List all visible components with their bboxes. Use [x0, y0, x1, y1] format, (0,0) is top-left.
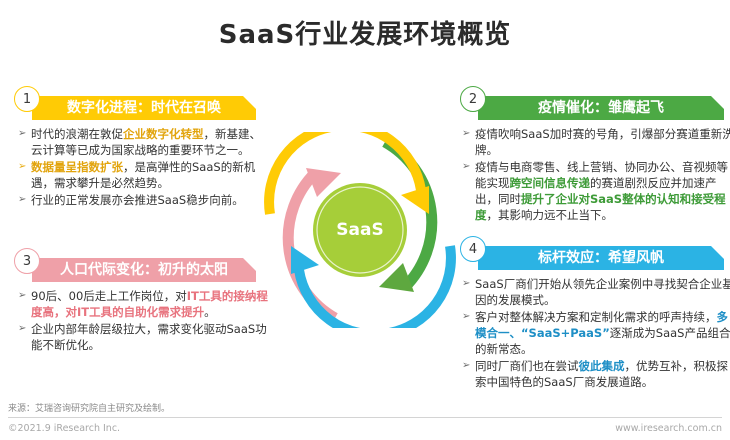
bullet-item: ➢时代的浪潮在敦促企业数字化转型，新基建、云计算等已成为国家战略的重要环节之一。	[18, 126, 268, 158]
bullet-arrow-icon: ➢	[462, 126, 475, 158]
bullet-text: 行业的正常发展亦会推进SaaS稳步向前。	[31, 192, 268, 208]
bullet-item: ➢企业内部年龄层级拉大，需求变化驱动SaaS功能不断优化。	[18, 321, 268, 353]
bullet-arrow-icon: ➢	[18, 126, 31, 158]
bullet-text: 同时厂商们也在尝试彼此集成，优势互补，积极探索中国特色的SaaS厂商发展道路。	[475, 358, 730, 390]
highlight-text: 数据量呈指数扩张	[31, 160, 123, 174]
section-header-3: 人口代际变化：初升的太阳	[32, 258, 256, 282]
text-run: 行业的正常发展亦会推进SaaS稳步向前。	[31, 193, 244, 207]
section-bullets-1: ➢时代的浪潮在敦促企业数字化转型，新基建、云计算等已成为国家战略的重要环节之一。…	[18, 126, 268, 209]
bullet-text: 客户对整体解决方案和定制化需求的呼声持续，多模合一、“SaaS+PaaS”逐渐成…	[475, 309, 730, 357]
bullet-text: SaaS厂商们开始从领先企业案例中寻找契合企业基因的发展模式。	[475, 276, 730, 308]
text-run: 疫情吹响SaaS加时赛的号角，引爆部分赛道重新洗牌。	[475, 127, 730, 157]
text-run: 同时厂商们也在尝试	[475, 359, 579, 373]
bullet-arrow-icon: ➢	[462, 309, 475, 357]
bullet-arrow-icon: ➢	[462, 358, 475, 390]
saas-core-circle	[313, 183, 407, 277]
bullet-item: ➢客户对整体解决方案和定制化需求的呼声持续，多模合一、“SaaS+PaaS”逐渐…	[462, 309, 730, 357]
bullet-arrow-icon: ➢	[18, 321, 31, 353]
bullet-text: 疫情与电商零售、线上营销、协同办公、音视频等能实现跨空间信息传递的赛道剧烈反应并…	[475, 159, 730, 223]
bullet-item: ➢同时厂商们也在尝试彼此集成，优势互补，积极探索中国特色的SaaS厂商发展道路。	[462, 358, 730, 390]
bullet-text: 90后、00后走上工作岗位，对IT工具的接纳程度高，对IT工具的自助化需求提升。	[31, 288, 268, 320]
bullet-arrow-icon: ➢	[18, 192, 31, 208]
text-run: 90后、00后走上工作岗位，对	[31, 289, 187, 303]
copyright-text: ©2021.9 iResearch Inc.	[8, 423, 120, 434]
bullet-text: 数据量呈指数扩张，是高弹性的SaaS的新机遇，需求攀升是必然趋势。	[31, 159, 268, 191]
bullet-arrow-icon: ➢	[462, 276, 475, 308]
website-url: www.iresearch.com.cn	[615, 423, 722, 434]
highlight-text: 跨空间信息传递	[510, 176, 591, 190]
section-header-1: 数字化进程：时代在召唤	[32, 96, 256, 120]
section-bullets-2: ➢疫情吹响SaaS加时赛的号角，引爆部分赛道重新洗牌。➢疫情与电商零售、线上营销…	[462, 126, 730, 224]
text-run: 。	[204, 305, 216, 319]
bullet-item: ➢数据量呈指数扩张，是高弹性的SaaS的新机遇，需求攀升是必然趋势。	[18, 159, 268, 191]
section-number-badge-4: 4	[460, 236, 486, 262]
bullet-text: 疫情吹响SaaS加时赛的号角，引爆部分赛道重新洗牌。	[475, 126, 730, 158]
text-run: SaaS厂商们开始从领先企业案例中寻找契合企业基因的发展模式。	[475, 277, 730, 307]
cycle-arcs-svg	[262, 132, 458, 328]
bullet-item: ➢SaaS厂商们开始从领先企业案例中寻找契合企业基因的发展模式。	[462, 276, 730, 308]
footer-divider	[8, 417, 722, 418]
slide-root: SaaS行业发展环境概览 1 数字化进程：时代在召唤 ➢时代的浪潮在敦促企业数字…	[0, 0, 730, 440]
bullet-text: 时代的浪潮在敦促企业数字化转型，新基建、云计算等已成为国家战略的重要环节之一。	[31, 126, 268, 158]
text-run: 企业内部年龄层级拉大，需求变化驱动SaaS功能不断优化。	[31, 322, 267, 352]
bullet-item: ➢疫情与电商零售、线上营销、协同办公、音视频等能实现跨空间信息传递的赛道剧烈反应…	[462, 159, 730, 223]
section-header-4: 标杆效应：希望风帆	[478, 246, 724, 270]
page-title: SaaS行业发展环境概览	[0, 14, 730, 51]
bullet-arrow-icon: ➢	[462, 159, 475, 223]
bullet-arrow-icon: ➢	[18, 288, 31, 320]
highlight-text: 企业数字化转型	[123, 127, 204, 141]
section-number-badge-3: 3	[14, 248, 40, 274]
bullet-arrow-icon: ➢	[18, 159, 31, 191]
text-run: 客户对整体解决方案和定制化需求的呼声持续，	[475, 310, 717, 324]
text-run: 时代的浪潮在敦促	[31, 127, 123, 141]
bullet-item: ➢行业的正常发展亦会推进SaaS稳步向前。	[18, 192, 268, 208]
section-number-badge-2: 2	[460, 86, 486, 112]
section-header-2: 疫情催化：雏鹰起飞	[478, 96, 724, 120]
source-note: 来源：艾瑞咨询研究院自主研究及绘制。	[8, 401, 170, 414]
section-number-badge-1: 1	[14, 86, 40, 112]
text-run: ，其影响力远不止当下。	[487, 208, 614, 222]
bullet-item: ➢疫情吹响SaaS加时赛的号角，引爆部分赛道重新洗牌。	[462, 126, 730, 158]
section-bullets-4: ➢SaaS厂商们开始从领先企业案例中寻找契合企业基因的发展模式。➢客户对整体解决…	[462, 276, 730, 391]
highlight-text: 彼此集成	[579, 359, 625, 373]
bullet-text: 企业内部年龄层级拉大，需求变化驱动SaaS功能不断优化。	[31, 321, 268, 353]
bullet-item: ➢90后、00后走上工作岗位，对IT工具的接纳程度高，对IT工具的自助化需求提升…	[18, 288, 268, 320]
section-bullets-3: ➢90后、00后走上工作岗位，对IT工具的接纳程度高，对IT工具的自助化需求提升…	[18, 288, 268, 354]
saas-cycle-diagram: SaaS	[262, 132, 458, 328]
